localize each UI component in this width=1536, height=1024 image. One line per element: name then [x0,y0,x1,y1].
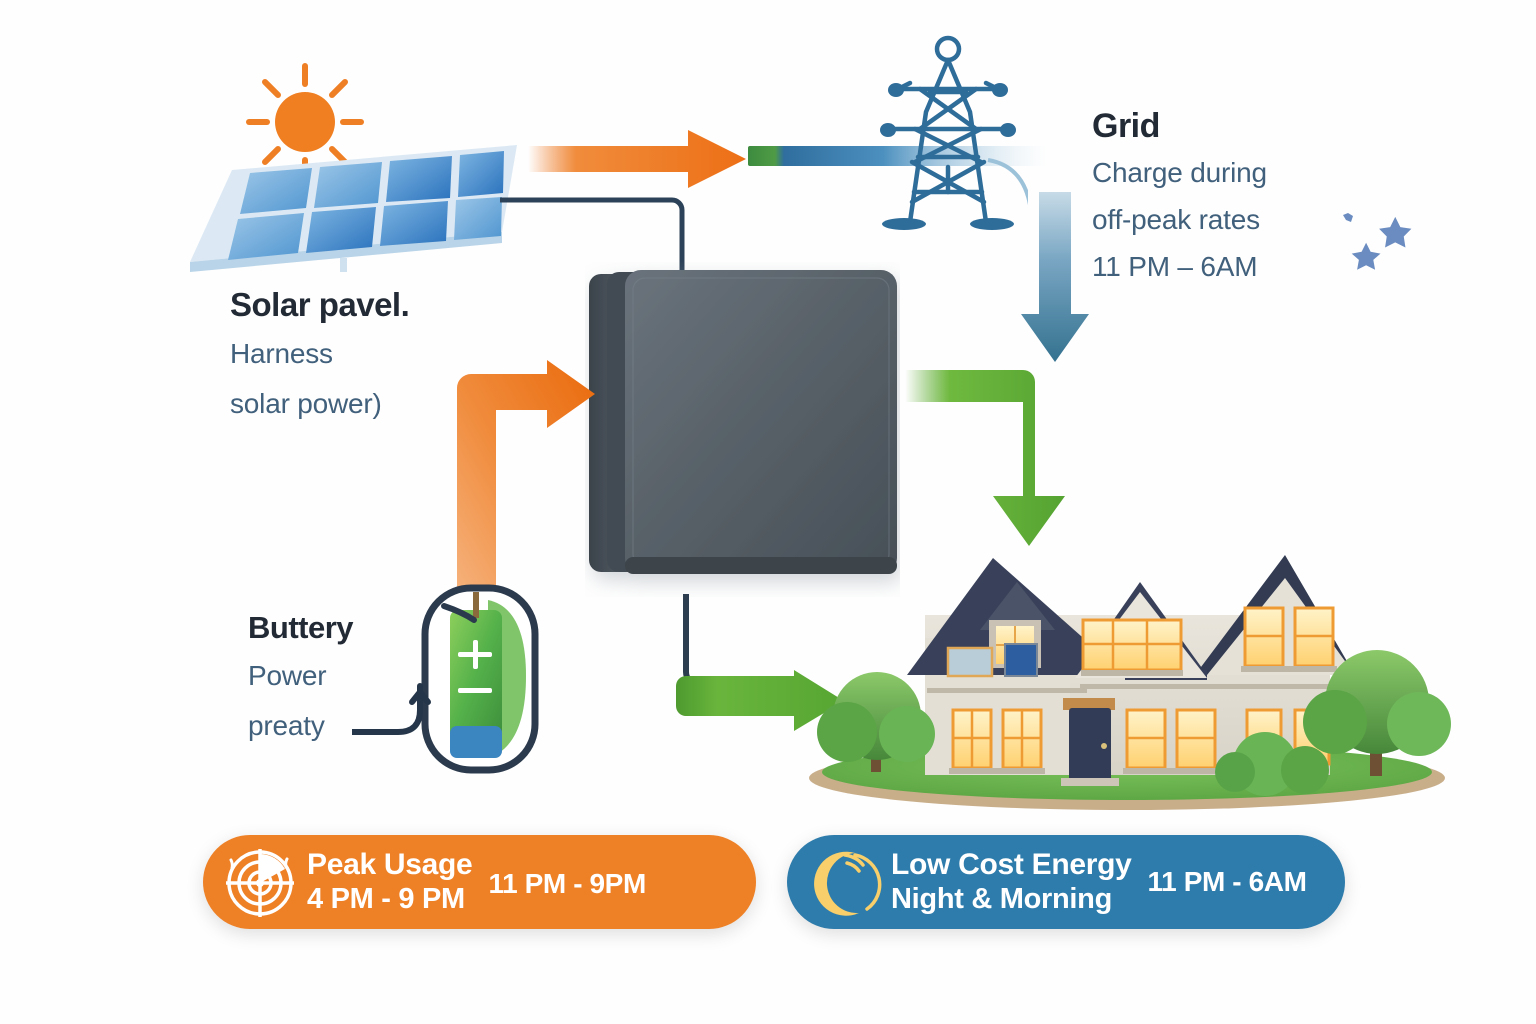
badge-peak-time: 11 PM - 9PM [488,868,645,900]
grid-title: Grid [1092,105,1422,147]
badge-lowcost-line1: Low Cost Energy [891,848,1132,882]
gauge-icon [221,843,299,921]
badge-peak-line2: 4 PM - 9 PM [307,882,472,916]
badge-peak-text: Peak Usage 4 PM - 9 PM 11 PM - 9PM [307,848,646,916]
orange-arrow-right [528,128,748,195]
badge-low-cost-energy[interactable]: Low Cost Energy Night & Morning 11 PM - … [787,835,1345,929]
house-icon [795,520,1460,810]
blue-arrow-down [1020,192,1090,369]
badge-lowcost-line2: Night & Morning [891,882,1132,916]
badge-peak-line1: Peak Usage [307,848,472,882]
badge-lowcost-text: Low Cost Energy Night & Morning 11 PM - … [891,848,1307,916]
solar-title: Solar pavel. [230,285,530,325]
moon-icon [805,843,883,921]
infographic-canvas: Solar pavel. Harness solar power) Grid C… [0,0,1536,1024]
transmission-tower-icon [868,32,1028,247]
solar-panel-icon [172,140,522,275]
orange-arrow-up-right [452,360,597,605]
star-icon [1340,205,1430,280]
grid-desc-line1: Charge during [1092,152,1422,194]
badge-peak-usage[interactable]: Peak Usage 4 PM - 9 PM 11 PM - 9PM [203,835,756,929]
badge-lowcost-time: 11 PM - 6AM [1148,866,1307,898]
navy-hook-connector [352,660,462,755]
